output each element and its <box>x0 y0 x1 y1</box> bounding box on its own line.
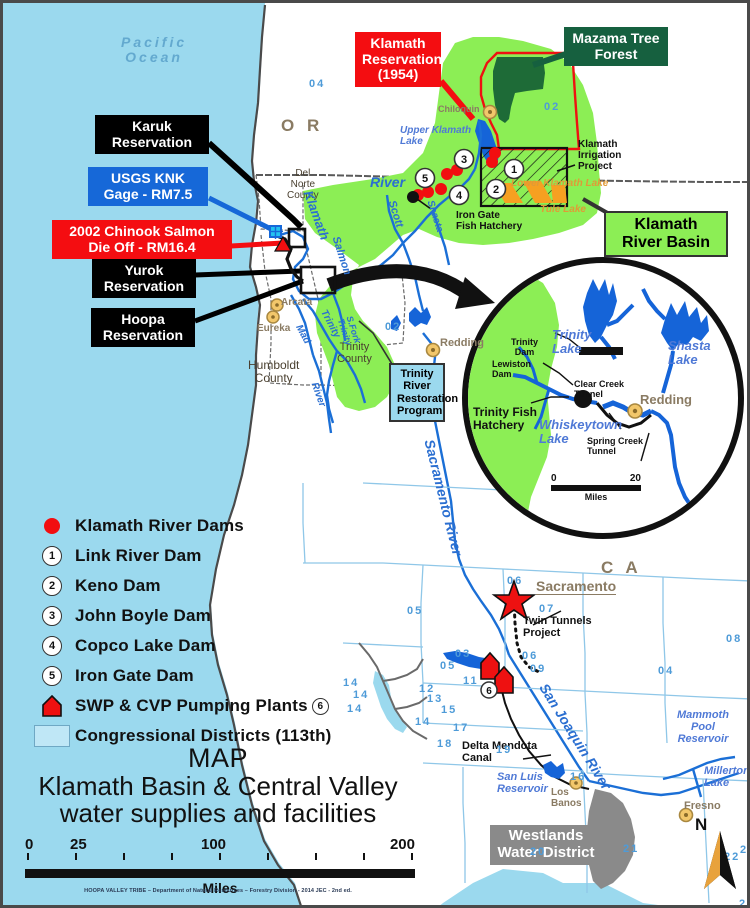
label-twin-tunnels-project: Twin Tunnels Project <box>523 615 592 639</box>
district-number: 11 <box>463 675 479 687</box>
callout-chinook-die-off: 2002 Chinook Salmon Die Off - RM16.4 <box>52 220 232 259</box>
legend-number: 6 <box>312 698 329 715</box>
number-1-icon: 1 <box>29 546 75 566</box>
label-eureka: Eureka <box>257 323 290 334</box>
district-number: 02 <box>544 101 560 113</box>
legend-number: 5 <box>42 666 62 686</box>
district-number: 21 <box>623 843 639 855</box>
label-iron-gate-fish-hatchery: Iron Gate Fish Hatchery <box>456 210 522 232</box>
label-pacific-ocean: Pacific Ocean <box>121 35 187 66</box>
scale-ticks <box>25 853 415 860</box>
label-trinity-fish-hatchery: Trinity Fish Hatchery <box>473 406 537 432</box>
legend-item-john-boyle-dam: 3 John Boyle Dam <box>29 601 359 631</box>
north-arrow-icon <box>703 831 737 893</box>
legend: Klamath River Dams 1 Link River Dam 2 Ke… <box>29 511 359 751</box>
label-lower-klamath-lake: Lower Klamath Lake <box>511 178 608 189</box>
pumping-plant-icon <box>29 695 75 718</box>
label-state-ca: C A <box>601 559 642 578</box>
legend-label: John Boyle Dam <box>75 606 211 626</box>
district-number: 15 <box>441 704 457 716</box>
map-credit: HOOPA VALLEY TRIBE – Department of Natur… <box>3 888 433 894</box>
district-number: 03 <box>455 648 471 660</box>
inset-scale-tick-0: 0 <box>551 473 557 484</box>
label-fresno: Fresno <box>684 800 721 812</box>
label-upper-klamath-lake: Upper Klamath Lake <box>400 125 471 147</box>
district-number: 23 <box>739 898 750 908</box>
district-number: 17 <box>453 722 469 734</box>
legend-label: Link River Dam <box>75 546 202 566</box>
svg-text:5: 5 <box>422 173 428 185</box>
district-number: 02 <box>385 321 401 333</box>
scale-tick-200: 200 <box>390 836 415 853</box>
scale-bar-graphic <box>25 869 415 878</box>
scale-tick-0: 0 <box>25 836 33 853</box>
label-tule-lake: Tule Lake <box>540 204 586 215</box>
callout-trinity-river-restoration: Trinity River Restoration Program <box>389 363 445 422</box>
map-title-block: MAP Klamath Basin & Central Valley water… <box>3 743 433 829</box>
title-map: MAP <box>3 743 433 774</box>
label-millerton-lake: Millerton Lake <box>704 765 750 789</box>
callout-westlands-water-district: Westlands Water District <box>490 825 602 865</box>
district-number: 04 <box>658 665 674 677</box>
inset-scale-numbers: 0 20 <box>551 473 641 485</box>
svg-text:4: 4 <box>456 190 463 202</box>
legend-number: 2 <box>42 576 62 596</box>
district-number: 08 <box>726 633 742 645</box>
label-clear-creek-tunnel: Clear Creek Tunnel <box>574 380 624 400</box>
scale-tick-25: 25 <box>70 836 87 853</box>
callout-hoopa-reservation: Hoopa Reservation <box>91 308 195 347</box>
label-humboldt-county: Humboldt County <box>248 359 299 385</box>
legend-item-klamath-river-dams: Klamath River Dams <box>29 511 359 541</box>
district-number: 14 <box>415 716 431 728</box>
label-spring-creek-tunnel: Spring Creek Tunnel <box>587 437 643 457</box>
svg-text:1: 1 <box>511 164 517 176</box>
legend-label: Keno Dam <box>75 576 161 596</box>
district-number: 04 <box>309 78 325 90</box>
callout-yurok-reservation: Yurok Reservation <box>92 259 196 298</box>
label-mammoth-pool-reservoir: Mammoth Pool Reservoir <box>677 709 729 745</box>
label-san-luis-reservoir: San Luis Reservoir <box>497 771 548 795</box>
label-arcata: Arcata <box>281 297 312 308</box>
district-number: 07 <box>539 603 555 615</box>
label-lewiston-dam: Lewiston Dam <box>492 360 531 380</box>
legend-item-iron-gate-dam: 5 Iron Gate Dam <box>29 661 359 691</box>
callout-mazama-tree-forest: Mazama Tree Forest <box>564 27 668 66</box>
label-trinity-lake: Trinity Lake <box>552 328 592 357</box>
label-sacramento: Sacramento <box>536 579 616 595</box>
label-klamath-irrigation-project: Klamath Irrigation Project <box>578 139 621 172</box>
label-redding-inset: Redding <box>640 393 692 407</box>
district-number: 06 <box>522 650 538 662</box>
scale-numbers: 0 25 100 200 <box>25 836 415 853</box>
label-trinity-dam: Trinity Dam <box>511 338 538 358</box>
district-number: 16 <box>570 771 586 783</box>
inset-scale-unit: Miles <box>551 492 641 502</box>
district-number: 06 <box>507 575 523 587</box>
label-shasta-lake: Shasta Lake <box>668 339 711 368</box>
label-state-or: O R <box>281 117 323 136</box>
callout-usgs-knk-gage: USGS KNK Gage - RM7.5 <box>88 167 208 206</box>
district-number: 18 <box>437 738 453 750</box>
number-2-icon: 2 <box>29 576 75 596</box>
district-number: 05 <box>407 605 423 617</box>
legend-label: Klamath River Dams <box>75 516 244 536</box>
north-arrow: N <box>703 831 737 898</box>
title-line-2: water supplies and facilities <box>3 798 433 829</box>
scale-tick-100: 100 <box>201 836 226 853</box>
legend-number: 1 <box>42 546 62 566</box>
svg-text:6: 6 <box>486 686 492 697</box>
legend-label: SWP & CVP Pumping Plants <box>75 696 308 716</box>
chiloquin-dot <box>484 106 497 119</box>
legend-item-pumping-plants: SWP & CVP Pumping Plants 6 <box>29 691 359 721</box>
number-5-icon: 5 <box>29 666 75 686</box>
label-trinity-county: Trinity County <box>337 341 372 365</box>
legend-item-copco-lake-dam: 4 Copco Lake Dam <box>29 631 359 661</box>
label-redding-main: Redding <box>440 337 484 349</box>
callout-klamath-river-basin: Klamath River Basin <box>604 211 728 257</box>
label-los-banos: Los Banos <box>551 787 582 809</box>
district-number: 05 <box>440 660 456 672</box>
legend-number: 3 <box>42 606 62 626</box>
label-chiloquin: Chiloquin <box>438 105 480 115</box>
legend-label: Iron Gate Dam <box>75 666 194 686</box>
district-number: 09 <box>530 663 546 675</box>
callout-klamath-reservation: Klamath Reservation (1954) <box>355 32 441 87</box>
number-4-icon: 4 <box>29 636 75 656</box>
svg-text:2: 2 <box>493 184 499 196</box>
map-canvas: 6 1 2 3 4 5 Pacific Ocean O R C A Del No… <box>0 0 750 908</box>
legend-item-keno-dam: 2 Keno Dam <box>29 571 359 601</box>
inset-scale-graphic <box>551 485 641 491</box>
redding-dot <box>427 344 440 357</box>
usgs-gage-marker <box>269 225 283 239</box>
compass-north-label: N <box>695 815 707 835</box>
district-number: 19 <box>496 744 512 756</box>
legend-number: 4 <box>42 636 62 656</box>
scale-bar: 0 25 100 200 Miles <box>25 836 415 896</box>
red-dot-icon <box>29 518 75 534</box>
house-icon <box>42 695 62 718</box>
number-3-icon: 3 <box>29 606 75 626</box>
inset-scale-tick-20: 20 <box>630 473 641 484</box>
svg-text:3: 3 <box>461 154 467 166</box>
label-klamath-river: River <box>370 175 405 190</box>
eureka-dot <box>267 311 279 323</box>
legend-label: Copco Lake Dam <box>75 636 216 656</box>
callout-karuk-reservation: Karuk Reservation <box>95 115 209 154</box>
legend-item-link-river-dam: 1 Link River Dam <box>29 541 359 571</box>
inset-scale-bar: 0 20 Miles <box>551 473 641 502</box>
district-number: 23 <box>740 844 750 856</box>
district-number: 20 <box>530 846 546 858</box>
